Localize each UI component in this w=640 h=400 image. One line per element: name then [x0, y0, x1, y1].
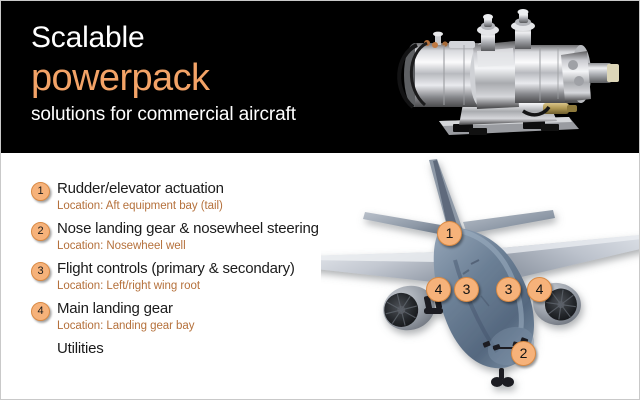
- aircraft-callout-2[interactable]: 2: [511, 341, 536, 366]
- list-item-title: Utilities: [57, 339, 104, 358]
- list-item[interactable]: 3 Flight controls (primary & secondary) …: [31, 259, 361, 299]
- list-item-text: Rudder/elevator actuation Location: Aft …: [57, 179, 224, 214]
- aircraft-callout-4-left[interactable]: 4: [426, 277, 451, 302]
- list-item-badge-1: 1: [31, 182, 50, 201]
- list-item-badge-3: 3: [31, 262, 50, 281]
- list-item-location: Location: Landing gear bay: [57, 319, 194, 334]
- list-item[interactable]: 4 Main landing gear Location: Landing ge…: [31, 299, 361, 339]
- list-item-title: Main landing gear: [57, 299, 194, 318]
- list-item-badge-2: 2: [31, 222, 50, 241]
- feature-list: 1 Rudder/elevator actuation Location: Af…: [31, 179, 361, 373]
- title-line-2: powerpack: [31, 56, 391, 100]
- list-item-text: Flight controls (primary & secondary) Lo…: [57, 259, 295, 294]
- list-item-text: Utilities: [57, 339, 104, 358]
- list-item-text: Nose landing gear & nosewheel steering L…: [57, 219, 319, 254]
- list-item-title: Flight controls (primary & secondary): [57, 259, 295, 278]
- list-item-title: Nose landing gear & nosewheel steering: [57, 219, 319, 238]
- slide: Scalable powerpack solutions for commerc…: [0, 0, 640, 400]
- subtitle: solutions for commercial aircraft: [31, 103, 391, 127]
- aircraft-callout-4-right[interactable]: 4: [527, 277, 552, 302]
- aircraft-callout-3-left[interactable]: 3: [454, 277, 479, 302]
- list-item-badge-4: 4: [31, 302, 50, 321]
- aircraft-callout-3-right[interactable]: 3: [496, 277, 521, 302]
- list-item-location: Location: Left/right wing root: [57, 279, 295, 294]
- list-item-utilities[interactable]: Utilities: [31, 339, 361, 373]
- powerpack-product-image: [373, 7, 635, 147]
- aircraft-callout-1[interactable]: 1: [437, 221, 462, 246]
- slide-header: Scalable powerpack solutions for commerc…: [1, 1, 640, 153]
- aircraft-diagram: 1 4 3 3 4 2: [321, 156, 640, 400]
- title-line-1: Scalable: [31, 21, 391, 55]
- list-item-title: Rudder/elevator actuation: [57, 179, 224, 198]
- list-item[interactable]: 2 Nose landing gear & nosewheel steering…: [31, 219, 361, 259]
- title-block: Scalable powerpack solutions for commerc…: [31, 21, 391, 127]
- list-item-location: Location: Aft equipment bay (tail): [57, 199, 224, 214]
- list-item-text: Main landing gear Location: Landing gear…: [57, 299, 194, 334]
- list-item[interactable]: 1 Rudder/elevator actuation Location: Af…: [31, 179, 361, 219]
- list-item-location: Location: Nosewheel well: [57, 239, 319, 254]
